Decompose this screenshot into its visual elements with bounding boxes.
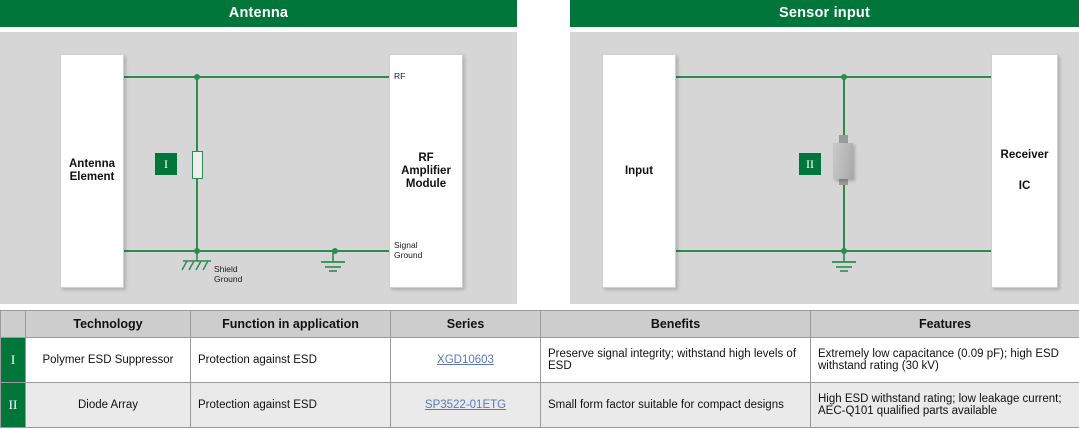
antenna-panel-title: Antenna — [0, 0, 517, 27]
receiver-line-2: IC — [1019, 180, 1031, 193]
series-link-sp3522-01etg[interactable]: SP3522-01ETG — [425, 399, 506, 411]
table-row: II Diode Array Protection against ESD SP… — [1, 383, 1079, 428]
signal-ground-pin-label: Signal Ground — [394, 240, 422, 260]
diode-array-package — [833, 143, 853, 179]
row-badge-II: II — [1, 383, 26, 428]
rf-amplifier-line-3: Module — [406, 178, 446, 191]
esd-suppressor-symbol — [192, 151, 203, 179]
shield-ground-label: Shield Ground — [214, 264, 242, 284]
antenna-element-block: Antenna Element — [60, 54, 124, 288]
shield-ground-line-2: Ground — [214, 274, 242, 284]
sensor-input-panel: Sensor input II Input Receiver IC — [570, 0, 1079, 304]
row-features: Extremely low capacitance (0.09 pF); hig… — [811, 338, 1079, 383]
sensor-top-node — [841, 74, 847, 80]
rf-pin-label-text: RF — [394, 71, 405, 81]
receiver-line-1: Receiver — [1001, 149, 1049, 162]
row-benefits: Small form factor suitable for compact d… — [541, 383, 811, 428]
column-header-features: Features — [811, 311, 1079, 338]
rf-amplifier-line-1: RF — [418, 152, 433, 165]
shield-ground-icon — [176, 252, 218, 278]
signal-ground-line-1: Signal — [394, 240, 422, 250]
rf-amplifier-line-2: Amplifier — [401, 165, 451, 178]
column-header-function: Function in application — [191, 311, 391, 338]
callout-badge-II: II — [799, 153, 821, 175]
row-badge-I: I — [1, 338, 26, 383]
input-block: Input — [602, 54, 676, 288]
sensor-input-panel-title: Sensor input — [570, 0, 1079, 27]
column-header-benefits: Benefits — [541, 311, 811, 338]
sensor-ground-wire — [632, 250, 992, 252]
antenna-top-node — [194, 74, 200, 80]
row-function: Protection against ESD — [191, 338, 391, 383]
series-link-xgd10603[interactable]: XGD10603 — [437, 354, 494, 366]
earth-ground-icon — [829, 252, 859, 278]
receiver-ic-block: Receiver IC — [991, 54, 1058, 288]
antenna-panel: Antenna I Antenna Element RF Amplifier M… — [0, 0, 517, 304]
callout-badge-I: I — [155, 153, 177, 175]
column-header-badge — [1, 311, 26, 338]
antenna-element-line-2: Element — [70, 171, 115, 184]
input-block-line-1: Input — [625, 165, 653, 178]
sensor-signal-wire — [632, 76, 992, 78]
application-diagrams: Antenna I Antenna Element RF Amplifier M… — [0, 0, 1079, 310]
row-series[interactable]: SP3522-01ETG — [391, 383, 541, 428]
antenna-schematic: I Antenna Element RF Amplifier Module RF… — [0, 32, 517, 304]
rf-pin-label: RF — [394, 71, 405, 81]
row-function: Protection against ESD — [191, 383, 391, 428]
signal-ground-line-2: Ground — [394, 250, 422, 260]
column-header-series: Series — [391, 311, 541, 338]
row-technology: Polymer ESD Suppressor — [26, 338, 191, 383]
earth-ground-icon — [318, 252, 348, 278]
row-features: High ESD withstand rating; low leakage c… — [811, 383, 1079, 428]
table-row: I Polymer ESD Suppressor Protection agai… — [1, 338, 1079, 383]
sensor-input-schematic: II Input Receiver IC — [570, 32, 1079, 304]
technology-comparison-table: Technology Function in application Serie… — [0, 310, 1079, 428]
antenna-element-line-1: Antenna — [69, 158, 115, 171]
table-header-row: Technology Function in application Serie… — [1, 311, 1079, 338]
row-series[interactable]: XGD10603 — [391, 338, 541, 383]
row-benefits: Preserve signal integrity; withstand hig… — [541, 338, 811, 383]
row-technology: Diode Array — [26, 383, 191, 428]
shield-ground-line-1: Shield — [214, 264, 242, 274]
column-header-technology: Technology — [26, 311, 191, 338]
